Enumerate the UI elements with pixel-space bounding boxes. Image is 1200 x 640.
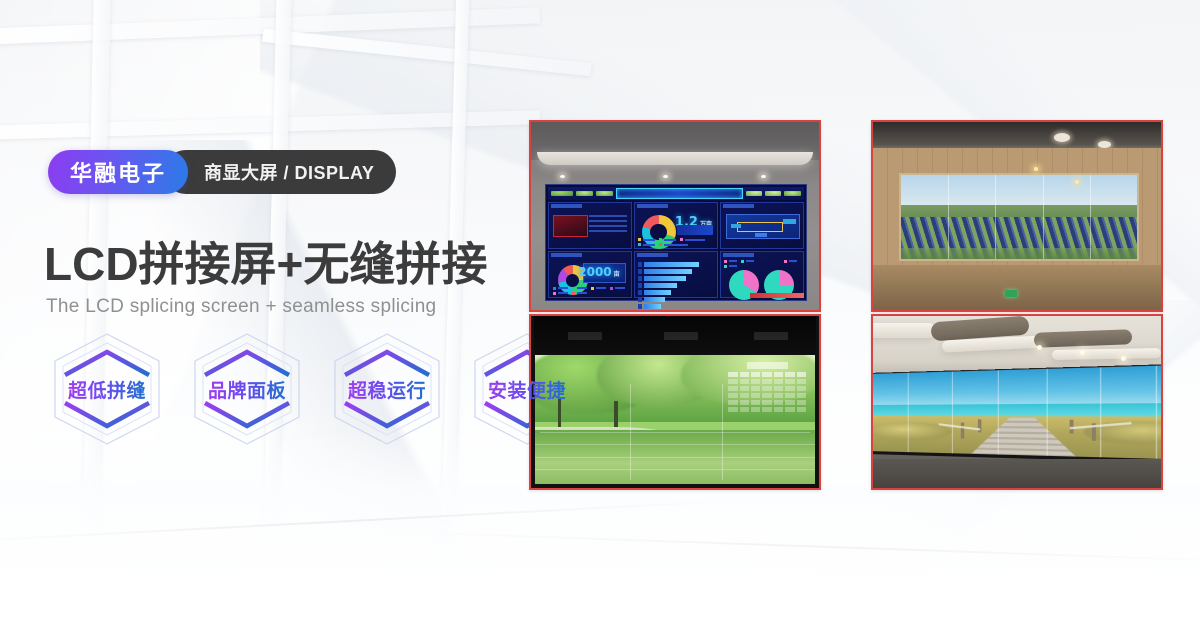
dashboard-navbar (548, 187, 803, 200)
videowall-screen (871, 362, 1163, 464)
feature-label: 超低拼缝 (68, 376, 146, 403)
photo-scene (531, 316, 819, 488)
videowall-screen (535, 355, 814, 484)
brand-name-pill: 华融电子 (48, 150, 188, 194)
feature-item-1[interactable]: 超低拼缝 (48, 330, 166, 448)
feature-label: 安装便捷 (488, 376, 566, 403)
gallery-photo-willow-lake-screen[interactable] (529, 314, 821, 490)
dashboard-panel-iot (720, 202, 804, 249)
gallery-photo-solarfarm-videowall[interactable] (871, 120, 1163, 312)
banner-stage: 华融电子 商显大屏 / DISPLAY LCD拼接屏+无缝拼接 The LCD … (0, 0, 1200, 640)
dashboard-panel-resources: 1.2万亩 (634, 202, 718, 249)
brand-badge: 华融电子 商显大屏 / DISPLAY (48, 150, 396, 194)
photo-scene (873, 122, 1161, 310)
dashboard-panel-area-share: 2000亩 (548, 251, 632, 298)
brand-category-pill: 商显大屏 / DISPLAY (164, 150, 396, 194)
feature-label: 超稳运行 (348, 376, 426, 403)
videowall-screen: 1.2万亩 (545, 184, 806, 301)
photo-scene (873, 316, 1161, 488)
photo-scene: 1.2万亩 (531, 122, 819, 310)
dashboard-panel-intro (548, 202, 632, 249)
page-title: LCD拼接屏+无缝拼接 (44, 228, 487, 294)
gallery-photo-dashboard-videowall[interactable]: 1.2万亩 (529, 120, 821, 312)
dashboard-panel-bars (634, 251, 718, 298)
feature-item-2[interactable]: 品牌面板 (188, 330, 306, 448)
dashboard-bar-chart (638, 262, 713, 309)
page-subtitle: The LCD splicing screen + seamless splic… (46, 296, 436, 318)
gallery-photo-beach-boardwalk-videowall[interactable] (871, 314, 1163, 490)
feature-list: 超低拼缝 品牌面板 超稳运行 (48, 330, 586, 448)
calendar-overlay (728, 362, 806, 424)
exit-sign-icon (1005, 290, 1017, 297)
videowall-screen (899, 173, 1139, 262)
feature-label: 品牌面板 (208, 376, 286, 403)
dashboard-panel-pies (720, 251, 804, 298)
feature-item-3[interactable]: 超稳运行 (328, 330, 446, 448)
dashboard-metric-2: 2000亩 (578, 265, 619, 279)
dashboard-title-chip (616, 188, 742, 199)
